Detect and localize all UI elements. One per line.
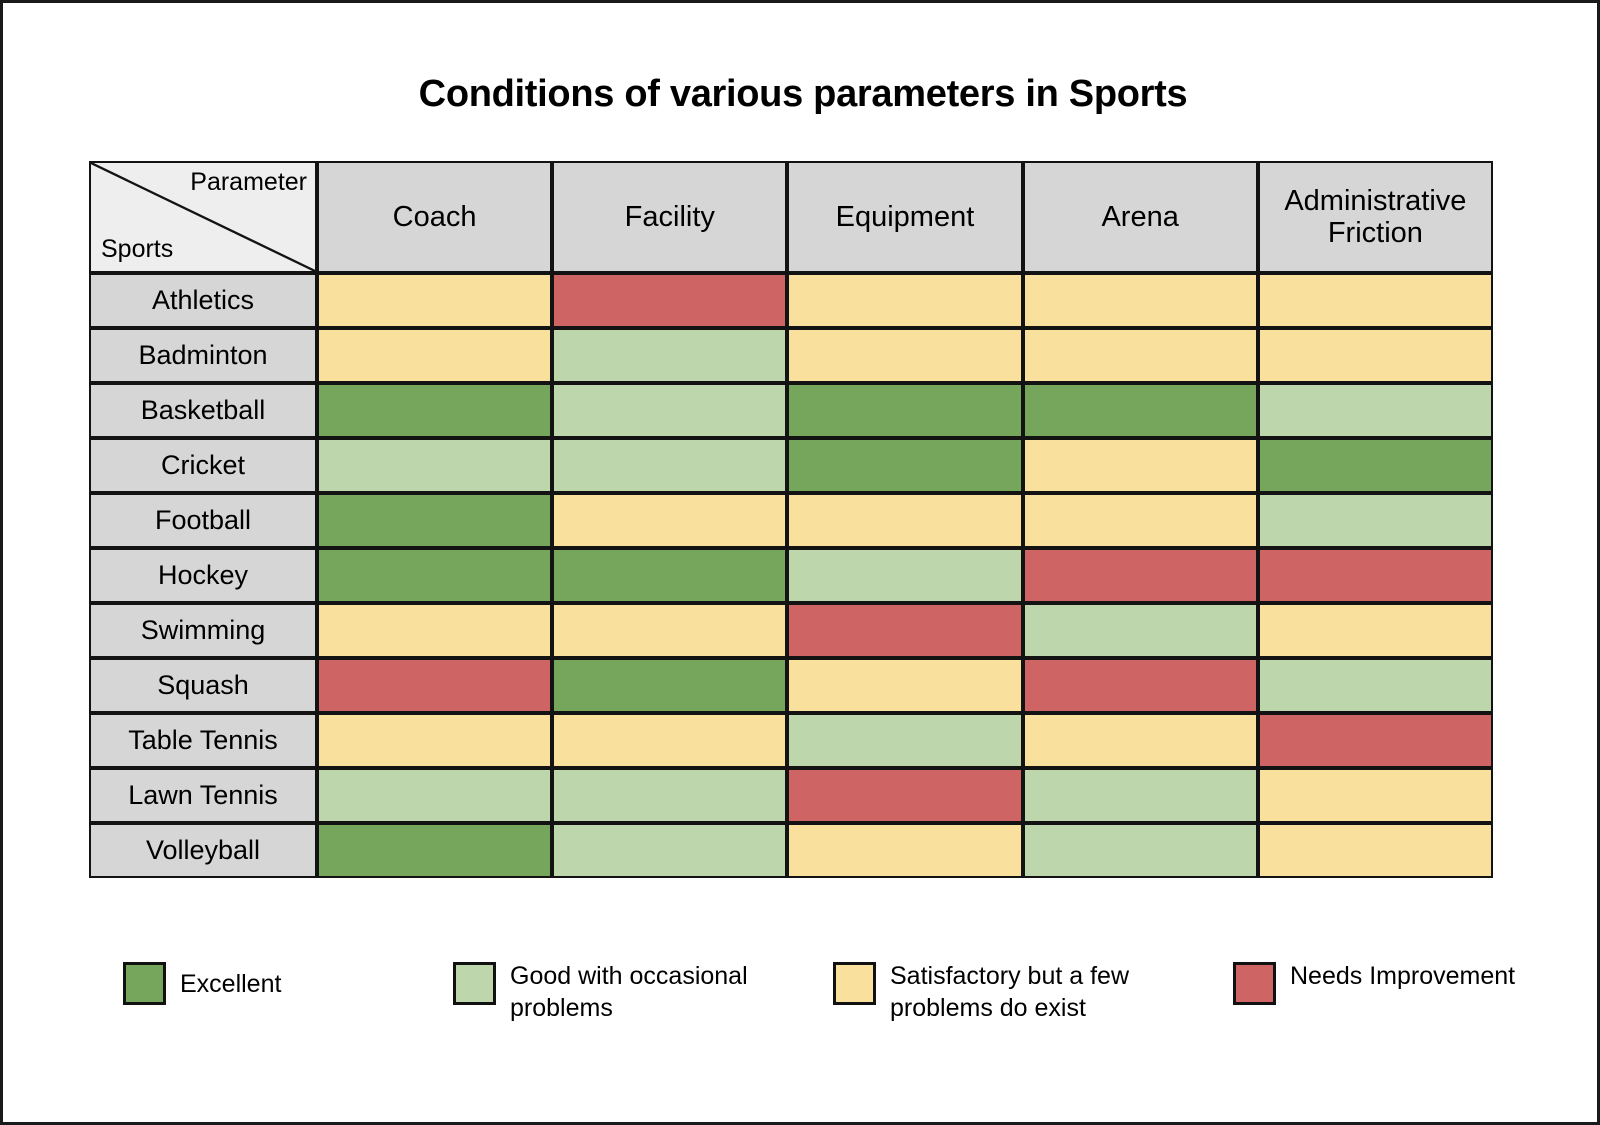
column-header-coach: Coach (317, 161, 552, 273)
matrix-corner-cell: Parameter Sports (89, 161, 317, 273)
row-header-table-tennis: Table Tennis (89, 713, 317, 768)
legend-swatch-good (453, 962, 496, 1005)
conditions-matrix: Parameter Sports Coach Facility Equipmen… (89, 161, 1493, 878)
heatmap-cell (1258, 493, 1493, 548)
heatmap-cell (552, 328, 787, 383)
heatmap-cell (1023, 603, 1258, 658)
row-header-badminton: Badminton (89, 328, 317, 383)
table-row: Squash (89, 658, 1493, 713)
heatmap-cell (552, 548, 787, 603)
legend-item-good: Good with occasional problems (453, 958, 833, 1024)
table-row: Hockey (89, 548, 1493, 603)
legend: Excellent Good with occasional problems … (123, 958, 1523, 1024)
row-header-squash: Squash (89, 658, 317, 713)
heatmap-cell (1023, 768, 1258, 823)
legend-item-needs-improvement: Needs Improvement (1233, 958, 1523, 1005)
heatmap-cell (317, 713, 552, 768)
table-row: Cricket (89, 438, 1493, 493)
heatmap-cell (787, 823, 1022, 878)
legend-swatch-excellent (123, 962, 166, 1005)
heatmap-cell (317, 328, 552, 383)
heatmap-cell (1023, 493, 1258, 548)
heatmap-cell (552, 438, 787, 493)
heatmap-cell (787, 713, 1022, 768)
legend-swatch-satisfactory (833, 962, 876, 1005)
row-header-lawn-tennis: Lawn Tennis (89, 768, 317, 823)
heatmap-cell (552, 658, 787, 713)
heatmap-cell (317, 493, 552, 548)
column-header-administrative-friction: Administrative Friction (1258, 161, 1493, 273)
table-row: Swimming (89, 603, 1493, 658)
legend-label-good: Good with occasional problems (510, 958, 833, 1024)
heatmap-cell (1258, 438, 1493, 493)
heatmap-cell (787, 273, 1022, 328)
page-title: Conditions of various parameters in Spor… (3, 73, 1600, 116)
heatmap-cell (317, 658, 552, 713)
table-row: Lawn Tennis (89, 768, 1493, 823)
heatmap-cell (317, 383, 552, 438)
row-header-football: Football (89, 493, 317, 548)
column-header-equipment: Equipment (787, 161, 1022, 273)
row-header-volleyball: Volleyball (89, 823, 317, 878)
chart-page: Conditions of various parameters in Spor… (0, 0, 1600, 1125)
heatmap-cell (787, 768, 1022, 823)
heatmap-cell (1258, 328, 1493, 383)
heatmap-cell (552, 768, 787, 823)
heatmap-cell (552, 273, 787, 328)
heatmap-cell (552, 713, 787, 768)
legend-swatch-needs-improvement (1233, 962, 1276, 1005)
heatmap-cell (1258, 658, 1493, 713)
matrix-header-row: Parameter Sports Coach Facility Equipmen… (89, 161, 1493, 273)
heatmap-cell (1258, 713, 1493, 768)
heatmap-cell (1258, 383, 1493, 438)
table-row: Table Tennis (89, 713, 1493, 768)
heatmap-cell (787, 438, 1022, 493)
heatmap-cell (787, 328, 1022, 383)
heatmap-cell (1258, 603, 1493, 658)
heatmap-cell (787, 493, 1022, 548)
heatmap-cell (787, 658, 1022, 713)
matrix-header: Parameter Sports Coach Facility Equipmen… (89, 161, 1493, 273)
heatmap-cell (317, 603, 552, 658)
heatmap-cell (1023, 383, 1258, 438)
heatmap-cell (1258, 273, 1493, 328)
heatmap-cell (1023, 273, 1258, 328)
table-row: Athletics (89, 273, 1493, 328)
heatmap-cell (1258, 768, 1493, 823)
heatmap-cell (1023, 658, 1258, 713)
legend-label-needs-improvement: Needs Improvement (1290, 958, 1515, 992)
row-header-swimming: Swimming (89, 603, 317, 658)
legend-label-excellent: Excellent (180, 958, 281, 1000)
heatmap-cell (1023, 328, 1258, 383)
heatmap-cell (552, 823, 787, 878)
heatmap-cell (1023, 823, 1258, 878)
heatmap-cell (787, 603, 1022, 658)
column-header-facility: Facility (552, 161, 787, 273)
heatmap-cell (552, 383, 787, 438)
heatmap-cell (1023, 713, 1258, 768)
matrix-body: AthleticsBadmintonBasketballCricketFootb… (89, 273, 1493, 878)
heatmap-cell (317, 768, 552, 823)
column-axis-label: Parameter (190, 169, 307, 197)
row-header-cricket: Cricket (89, 438, 317, 493)
row-axis-label: Sports (101, 236, 173, 264)
heatmap-cell (317, 548, 552, 603)
row-header-athletics: Athletics (89, 273, 317, 328)
table-row: Volleyball (89, 823, 1493, 878)
legend-item-satisfactory: Satisfactory but a few problems do exist (833, 958, 1233, 1024)
heatmap-cell (1023, 438, 1258, 493)
table-row: Badminton (89, 328, 1493, 383)
heatmap-cell (787, 383, 1022, 438)
heatmap-cell (317, 823, 552, 878)
heatmap-cell (1023, 548, 1258, 603)
row-header-hockey: Hockey (89, 548, 317, 603)
legend-item-excellent: Excellent (123, 958, 453, 1005)
table-row: Basketball (89, 383, 1493, 438)
heatmap-cell (552, 493, 787, 548)
row-header-basketball: Basketball (89, 383, 317, 438)
legend-label-satisfactory: Satisfactory but a few problems do exist (890, 958, 1233, 1024)
heatmap-cell (552, 603, 787, 658)
heatmap-cell (317, 273, 552, 328)
table-row: Football (89, 493, 1493, 548)
heatmap-cell (317, 438, 552, 493)
heatmap-cell (1258, 548, 1493, 603)
heatmap-cell (787, 548, 1022, 603)
heatmap-cell (1258, 823, 1493, 878)
column-header-arena: Arena (1023, 161, 1258, 273)
